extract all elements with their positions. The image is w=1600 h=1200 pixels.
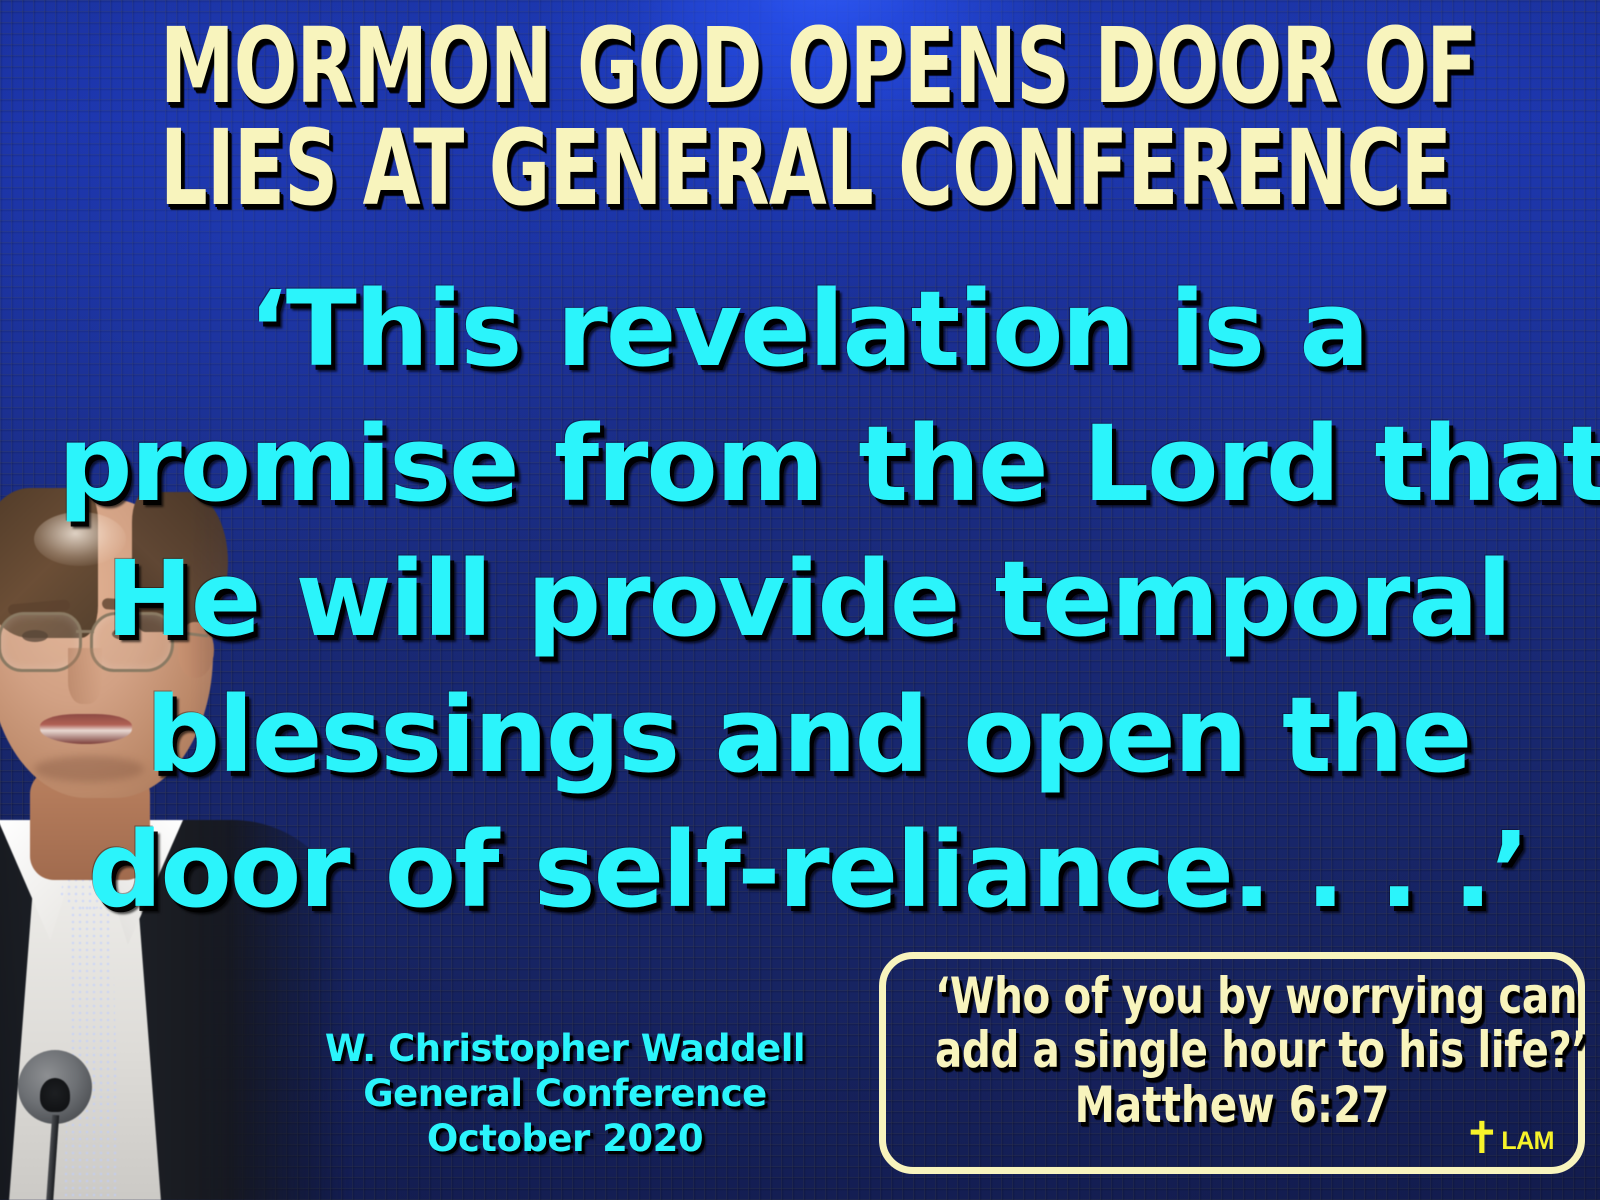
scripture-reference: Matthew 6:27 [935,1079,1529,1132]
quote-line-1: ‘This revelation is a [58,262,1558,397]
scripture-quote: ‘Who of you by worrying can add a single… [935,969,1529,1077]
photo-necktie [64,906,120,1200]
microphone-inner [40,1078,70,1112]
quote-line-3: He will provide temporal [58,532,1558,667]
attribution-date: October 2020 [300,1116,830,1161]
attribution-speaker: W. Christopher Waddell [300,1026,830,1071]
quote-line-4: blessings and open the [58,668,1558,803]
scripture-line-1: ‘Who of you by worrying can [935,969,1529,1023]
quote-line-2: promise from the Lord that [58,397,1558,532]
scripture-box: ‘Who of you by worrying can add a single… [879,952,1585,1174]
headline: MORMON GOD OPENS DOOR OF LIES AT GENERAL… [160,16,1440,220]
attribution-event: General Conference [300,1071,830,1116]
cross-icon: ✝ [1463,1121,1500,1157]
quote-line-5: door of self-reliance. . . .’ [58,803,1558,938]
lam-logo: ✝ LAM [1463,1121,1554,1157]
headline-line-1: MORMON GOD OPENS DOOR OF [160,16,1440,118]
lam-logo-text: LAM [1501,1129,1554,1157]
scripture-line-2: add a single hour to his life?’ [935,1023,1529,1077]
headline-line-2: LIES AT GENERAL CONFERENCE [160,118,1440,220]
main-quote: ‘This revelation is a promise from the L… [58,262,1558,938]
attribution: W. Christopher Waddell General Conferenc… [300,1026,830,1161]
slide-canvas: MORMON GOD OPENS DOOR OF LIES AT GENERAL… [0,0,1600,1200]
